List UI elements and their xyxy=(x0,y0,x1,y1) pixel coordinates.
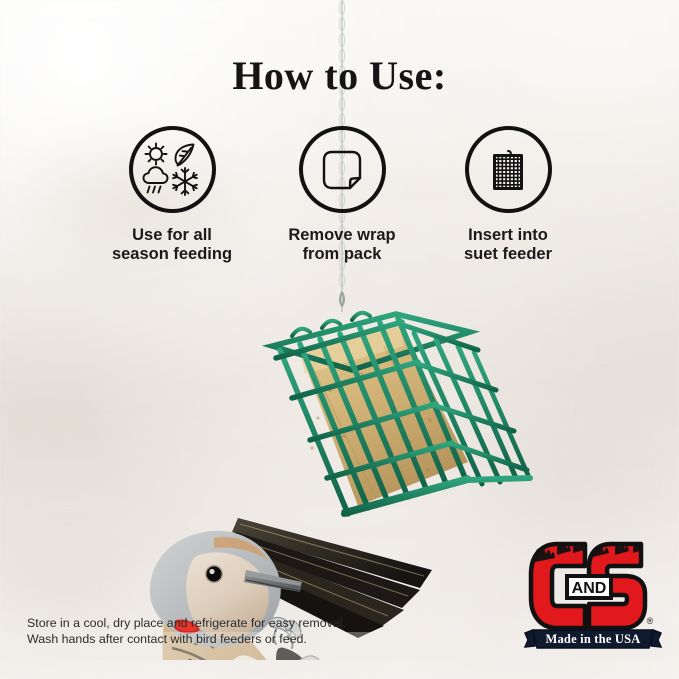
step-remove-wrap: Remove wrap from pack xyxy=(249,126,435,264)
product-infographic: How to Use: xyxy=(0,0,679,679)
page-title: How to Use: xyxy=(0,52,679,99)
step-label: Remove wrap from pack xyxy=(249,226,435,264)
logo-usa-banner: Made in the USA xyxy=(525,630,661,648)
logo-and-text: AND xyxy=(572,580,607,597)
brand-logo-c-and-s: AND ® Made in the USA xyxy=(523,532,663,650)
suet-cage-feeder-icon xyxy=(465,126,552,213)
logo-registered-mark: ® xyxy=(647,616,654,626)
bird-eye-glint xyxy=(209,569,214,574)
bird-eye xyxy=(206,566,221,581)
instruction-steps: Use for all season feeding Remove wrap f… xyxy=(0,126,679,276)
step-all-season-feeding: Use for all season feeding xyxy=(79,126,265,264)
weather-seasons-icon xyxy=(129,126,216,213)
step-insert-suet-feeder: Insert into suet feeder xyxy=(415,126,601,264)
logo-banner-text: Made in the USA xyxy=(545,632,640,646)
logo-and-box: AND xyxy=(567,576,611,598)
storage-instructions: Store in a cool, dry place and refrigera… xyxy=(27,616,346,647)
step-label: Use for all season feeding xyxy=(79,226,265,264)
wrapper-peel-icon xyxy=(299,126,386,213)
step-label: Insert into suet feeder xyxy=(415,226,601,264)
